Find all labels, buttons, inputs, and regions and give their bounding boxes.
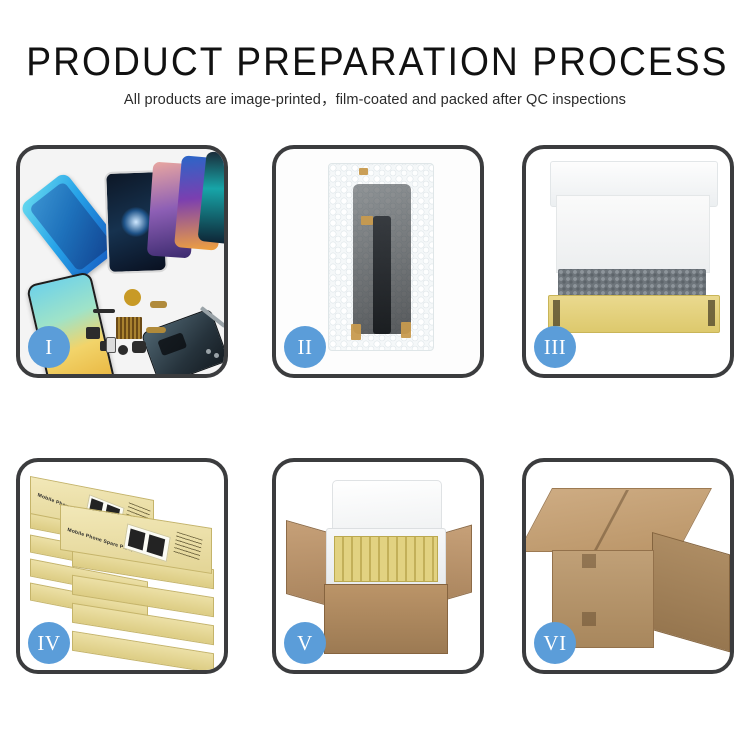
bubble-wrap-bag (328, 163, 434, 351)
tape-piece-bottom-left (351, 324, 361, 340)
carton-side-face (652, 532, 730, 652)
camera-module-part (132, 341, 146, 353)
tape-piece-top (359, 168, 368, 175)
yellow-boxes-inside (334, 536, 438, 582)
antenna-strip-part (93, 309, 115, 313)
screw-part-a (206, 349, 211, 354)
step-badge-6: VI (534, 622, 576, 664)
process-steps-grid: I II III (0, 0, 750, 750)
screw-part-b (214, 353, 219, 358)
step-panel-3[interactable]: III (522, 145, 734, 378)
bracket-part-a (86, 327, 100, 339)
step-panel-2[interactable]: II (272, 145, 484, 378)
carton-tape-lower (582, 612, 596, 626)
flex-cable-part-a (150, 301, 167, 308)
part-dark-strip (373, 216, 391, 334)
carton-body (324, 584, 448, 654)
flex-cable-part-b (146, 327, 166, 333)
carton-tape-upper (582, 554, 596, 568)
sim-tray-part (106, 337, 116, 353)
button-part (118, 345, 128, 355)
tape-piece-bottom-right (401, 322, 411, 338)
step-badge-1: I (28, 326, 70, 368)
tape-piece-mid (361, 216, 373, 225)
kraft-box-base (548, 295, 720, 333)
step-panel-4[interactable]: Mobile Phone Spare Parts Mobile Phone Sp… (16, 458, 228, 674)
step-panel-5[interactable]: V (272, 458, 484, 674)
step-badge-2: II (284, 326, 326, 368)
step-badge-3: III (534, 326, 576, 368)
anti-static-foam-layer (558, 269, 706, 297)
step-panel-6[interactable]: VI (522, 458, 734, 674)
step-panel-1[interactable]: I (16, 145, 228, 378)
product-preparation-infographic: PRODUCT PREPARATION PROCESS All products… (0, 0, 750, 750)
chip-grid-part (116, 317, 142, 339)
step-badge-4: IV (28, 622, 70, 664)
box-label-window-front (123, 523, 171, 562)
step-badge-5: V (284, 622, 326, 664)
white-foam-insert (556, 195, 710, 273)
box-label-lines-front (173, 532, 202, 561)
speaker-part (124, 289, 141, 306)
